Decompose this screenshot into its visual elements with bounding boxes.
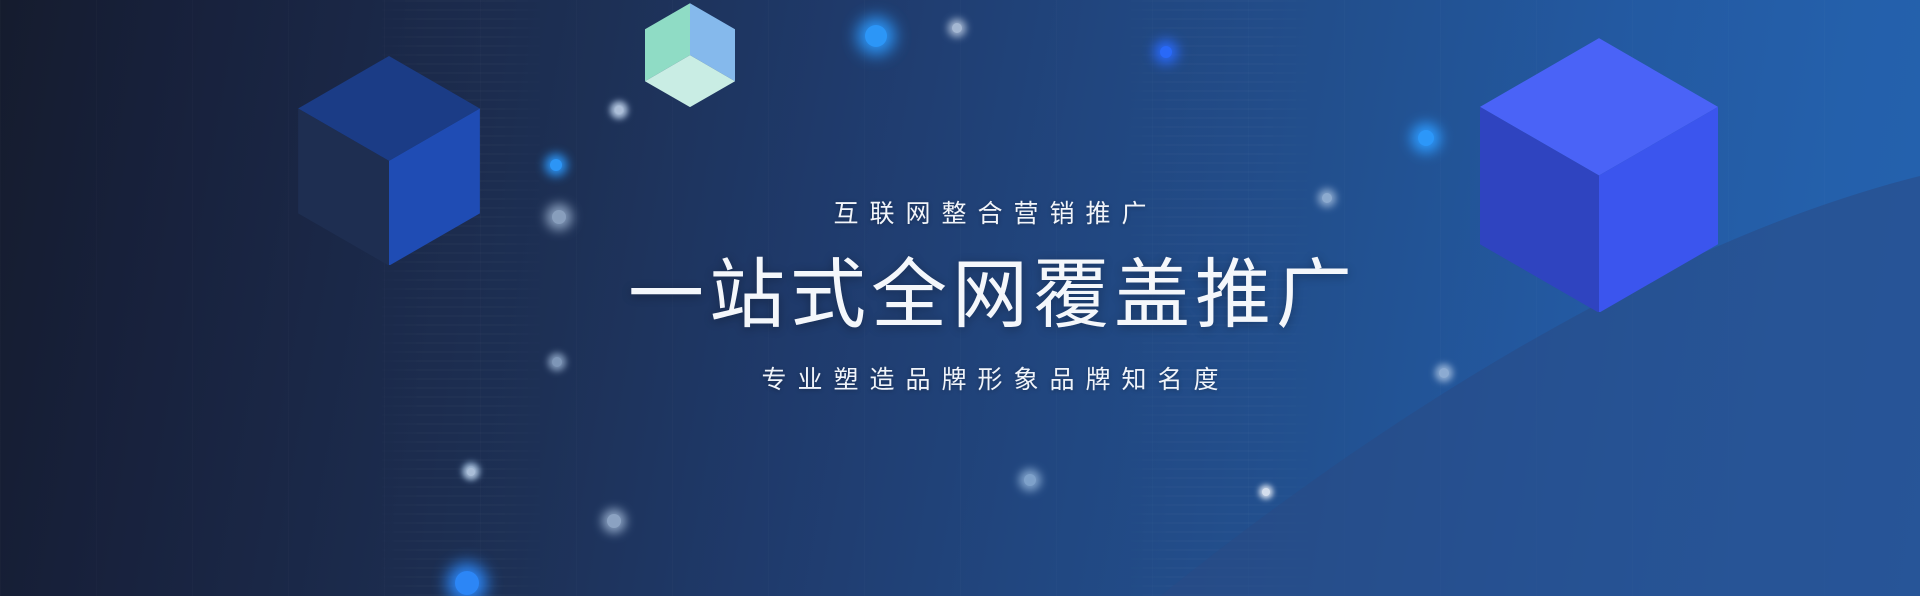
banner-headline: 一站式全网覆盖推广 [623,255,1357,337]
promo-banner: 互联网整合营销推广 一站式全网覆盖推广 专业塑造品牌形象品牌知名度 [0,0,1920,596]
banner-subline: 专业塑造品牌形象品牌知名度 [750,367,1229,395]
banner-text-block: 互联网整合营销推广 一站式全网覆盖推广 专业塑造品牌形象品牌知名度 [0,0,1920,596]
banner-eyebrow: 互联网整合营销推广 [822,201,1157,229]
